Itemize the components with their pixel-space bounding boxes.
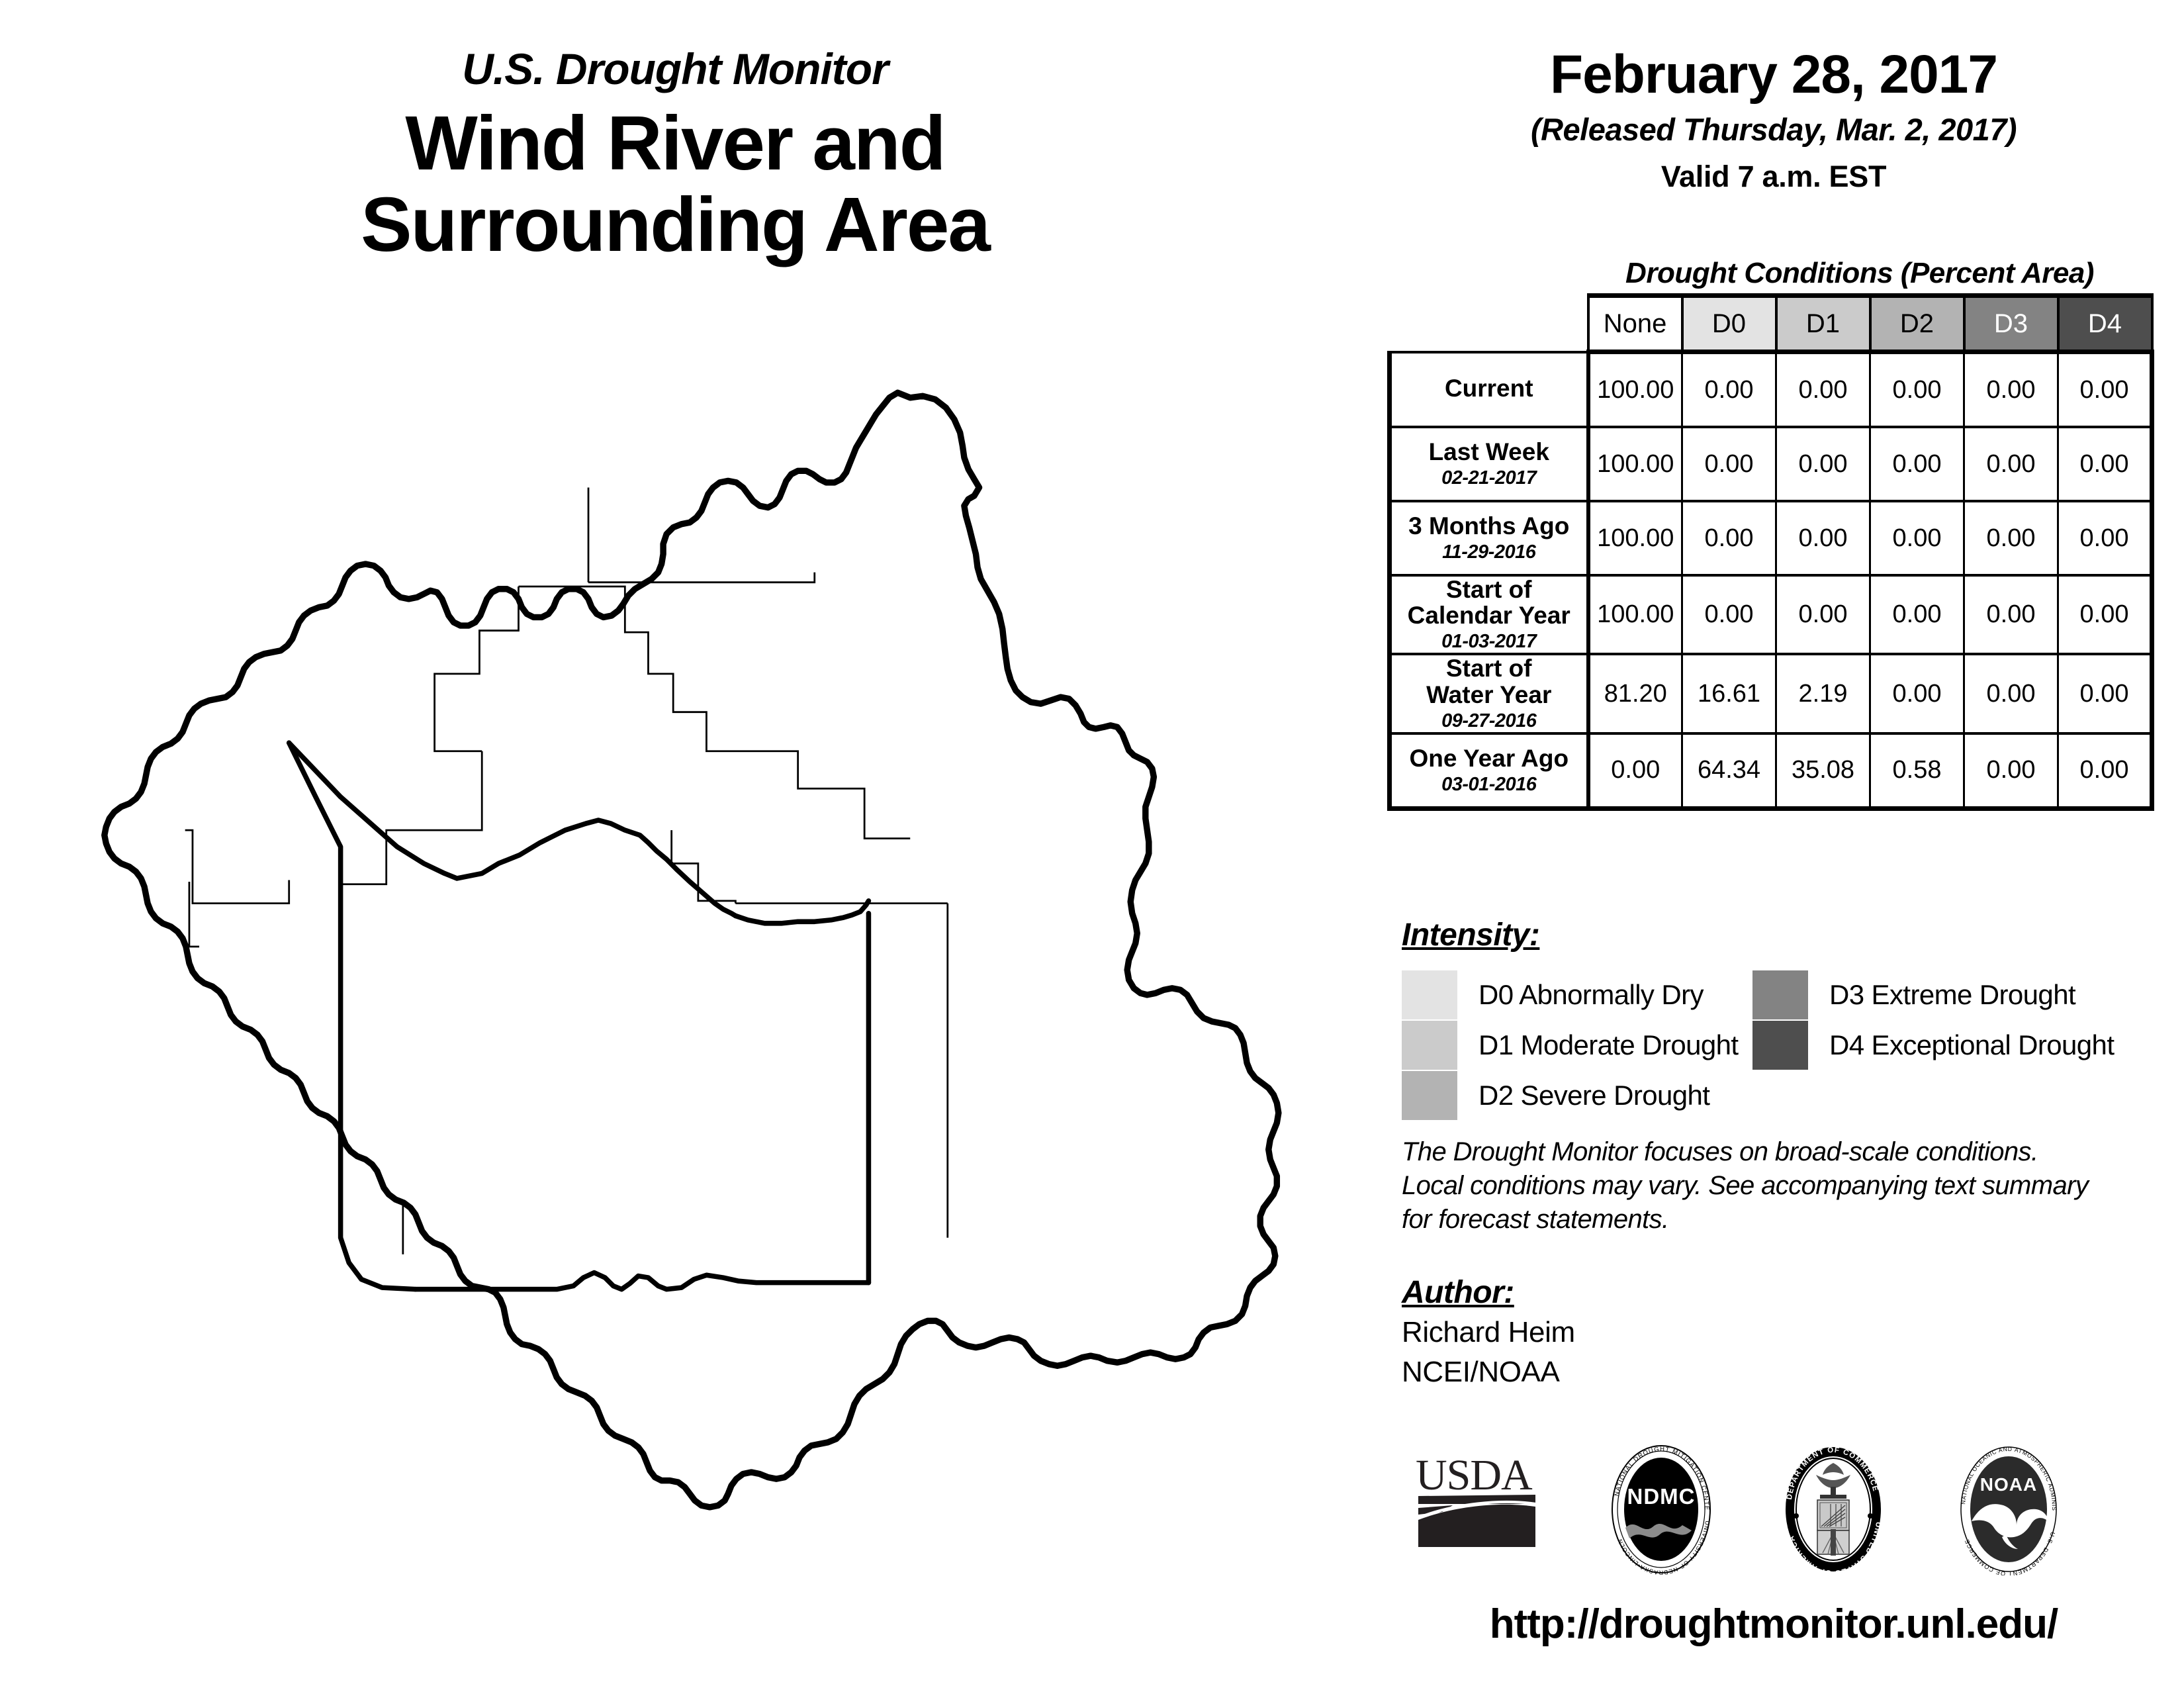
column-header-d0: D0 <box>1682 296 1776 352</box>
author-affiliation: NCEI/NOAA <box>1402 1354 1931 1390</box>
svg-text:USDA: USDA <box>1416 1451 1533 1499</box>
swatch-d3-icon <box>1752 970 1808 1019</box>
cell-d1: 0.00 <box>1776 501 1870 575</box>
row-date: 11-29-2016 <box>1392 541 1586 563</box>
cell-d2: 0.00 <box>1870 501 1964 575</box>
table-row: Current 100.00 0.00 0.00 0.00 0.00 0.00 <box>1390 352 2152 428</box>
map-outer-boundary <box>105 393 1279 1507</box>
doc-seal-svg: DEPARTMENT OF COMMERCE UNITED STATES OF … <box>1767 1443 1899 1575</box>
logo-row: USDA NDMC NATIONAL DROUGHT MITI <box>1377 1443 2171 1575</box>
row-title: Start ofCalendar Year <box>1392 577 1586 628</box>
cell-d0: 0.00 <box>1682 575 1776 654</box>
intensity-legend: Intensity: D0 Abnormally Dry D1 Moderate… <box>1402 917 2183 1116</box>
cell-d1: 0.00 <box>1776 352 1870 428</box>
cell-d1: 0.00 <box>1776 427 1870 501</box>
cell-none: 81.20 <box>1588 654 1682 733</box>
cell-d4: 0.00 <box>2058 501 2152 575</box>
row-date: 09-27-2016 <box>1392 710 1586 732</box>
legend-label-d2: D2 Severe Drought <box>1479 1080 1709 1111</box>
table-row: Last Week 02-21-2017 100.00 0.00 0.00 0.… <box>1390 427 2152 501</box>
cell-d0: 0.00 <box>1682 427 1776 501</box>
legend-item-d0: D0 Abnormally Dry <box>1402 970 1704 1019</box>
title-block: U.S. Drought Monitor Wind River and Surr… <box>0 46 1350 265</box>
cell-d0: 0.00 <box>1682 352 1776 428</box>
cell-d4: 0.00 <box>2058 654 2152 733</box>
table-caption: Drought Conditions (Percent Area) <box>1562 257 2158 290</box>
svg-text:NDMC: NDMC <box>1627 1484 1696 1509</box>
cell-d1: 2.19 <box>1776 654 1870 733</box>
map-svg <box>66 361 1363 1532</box>
usda-logo: USDA <box>1413 1451 1555 1564</box>
cell-d3: 0.00 <box>1964 427 2058 501</box>
cell-d3: 0.00 <box>1964 575 2058 654</box>
drought-conditions-table: None D0 D1 D2 D3 D4 Current 100.00 0.00 … <box>1387 293 2154 811</box>
disclaimer-line-1: The Drought Monitor focuses on broad-sca… <box>1402 1135 2176 1169</box>
cell-d0: 64.34 <box>1682 733 1776 809</box>
cell-d1: 35.08 <box>1776 733 1870 809</box>
cell-none: 0.00 <box>1588 733 1682 809</box>
cell-d3: 0.00 <box>1964 654 2058 733</box>
cell-d4: 0.00 <box>2058 575 2152 654</box>
legend-label-d1: D1 Moderate Drought <box>1479 1029 1738 1061</box>
cell-d2: 0.00 <box>1870 654 1964 733</box>
page-title: Wind River and Surrounding Area <box>0 103 1350 265</box>
legend-item-d4: D4 Exceptional Drought <box>1752 1021 2114 1070</box>
swatch-d0-icon <box>1402 970 1457 1019</box>
usda-logo-svg: USDA <box>1413 1451 1555 1560</box>
noaa-logo: NOAA NATIONAL OCEANIC AND ATMOSPHERIC AD… <box>1942 1443 2075 1579</box>
table-header-row: None D0 D1 D2 D3 D4 <box>1390 296 2152 352</box>
row-title: Current <box>1392 375 1586 401</box>
cell-none: 100.00 <box>1588 575 1682 654</box>
right-panel: February 28, 2017 (Released Thursday, Ma… <box>1363 0 2184 1688</box>
noaa-logo-svg: NOAA NATIONAL OCEANIC AND ATMOSPHERIC AD… <box>1942 1443 2075 1575</box>
disclaimer-text: The Drought Monitor focuses on broad-sca… <box>1402 1135 2176 1237</box>
cell-d2: 0.00 <box>1870 352 1964 428</box>
intensity-heading: Intensity: <box>1402 917 2183 953</box>
cell-d0: 16.61 <box>1682 654 1776 733</box>
release-date: (Released Thursday, Mar. 2, 2017) <box>1363 111 2184 148</box>
page-title-line1: Wind River and <box>0 103 1350 184</box>
cell-d3: 0.00 <box>1964 352 2058 428</box>
legend-label-d4: D4 Exceptional Drought <box>1829 1029 2114 1061</box>
legend-label-d3: D3 Extreme Drought <box>1829 979 2075 1011</box>
legend-item-d2: D2 Severe Drought <box>1402 1071 1709 1120</box>
row-label-start-of-water-year: Start ofWater Year 09-27-2016 <box>1390 654 1588 733</box>
department-of-commerce-seal: DEPARTMENT OF COMMERCE UNITED STATES OF … <box>1767 1443 1899 1579</box>
row-label-start-of-calendar-year: Start ofCalendar Year 01-03-2017 <box>1390 575 1588 654</box>
ndmc-logo-svg: NDMC NATIONAL DROUGHT MITIGATION CENTER … <box>1595 1443 1727 1575</box>
row-label-current: Current <box>1390 352 1588 428</box>
legend-item-d3: D3 Extreme Drought <box>1752 970 2075 1019</box>
row-title: 3 Months Ago <box>1392 513 1586 539</box>
row-title: One Year Ago <box>1392 745 1586 771</box>
swatch-d4-icon <box>1752 1021 1808 1070</box>
cell-d2: 0.00 <box>1870 427 1964 501</box>
disclaimer-line-3: for forecast statements. <box>1402 1203 2176 1237</box>
cell-none: 100.00 <box>1588 427 1682 501</box>
table-row: Start ofWater Year 09-27-2016 81.20 16.6… <box>1390 654 2152 733</box>
row-date: 03-01-2016 <box>1392 774 1586 796</box>
svg-text:NOAA: NOAA <box>1980 1474 2037 1495</box>
cell-d4: 0.00 <box>2058 733 2152 809</box>
row-label-one-year-ago: One Year Ago 03-01-2016 <box>1390 733 1588 809</box>
cell-d2: 0.00 <box>1870 575 1964 654</box>
row-label-3-months-ago: 3 Months Ago 11-29-2016 <box>1390 501 1588 575</box>
cell-none: 100.00 <box>1588 352 1682 428</box>
row-title: Last Week <box>1392 439 1586 465</box>
row-date: 01-03-2017 <box>1392 631 1586 653</box>
swatch-d2-icon <box>1402 1071 1457 1120</box>
row-date: 02-21-2017 <box>1392 467 1586 489</box>
legend-label-d0: D0 Abnormally Dry <box>1479 979 1704 1011</box>
author-section: Author: Richard Heim NCEI/NOAA <box>1402 1274 1931 1389</box>
map-interior-boundaries <box>185 487 948 1254</box>
map-major-internal-boundaries <box>289 743 869 1289</box>
column-header-d4: D4 <box>2058 296 2152 352</box>
cell-d3: 0.00 <box>1964 501 2058 575</box>
column-header-none: None <box>1588 296 1682 352</box>
cell-d4: 0.00 <box>2058 427 2152 501</box>
header-spacer <box>1390 296 1588 352</box>
column-header-d3: D3 <box>1964 296 2058 352</box>
column-header-d1: D1 <box>1776 296 1870 352</box>
date-block: February 28, 2017 (Released Thursday, Ma… <box>1363 48 2184 194</box>
ndmc-logo: NDMC NATIONAL DROUGHT MITIGATION CENTER … <box>1595 1443 1727 1579</box>
legend-item-d1: D1 Moderate Drought <box>1402 1021 1738 1070</box>
cell-d3: 0.00 <box>1964 733 2058 809</box>
legend-grid: D0 Abnormally Dry D1 Moderate Drought D2… <box>1402 970 2183 1116</box>
cell-d0: 0.00 <box>1682 501 1776 575</box>
table-row: 3 Months Ago 11-29-2016 100.00 0.00 0.00… <box>1390 501 2152 575</box>
cell-d1: 0.00 <box>1776 575 1870 654</box>
column-header-d2: D2 <box>1870 296 1964 352</box>
drought-monitor-kicker: U.S. Drought Monitor <box>0 46 1350 92</box>
valid-time: Valid 7 a.m. EST <box>1363 160 2184 194</box>
author-heading: Author: <box>1402 1274 1931 1311</box>
swatch-d1-icon <box>1402 1021 1457 1070</box>
author-name: Richard Heim <box>1402 1315 1931 1350</box>
page-title-line2: Surrounding Area <box>0 184 1350 265</box>
disclaimer-line-2: Local conditions may vary. See accompany… <box>1402 1169 2176 1203</box>
table-row: One Year Ago 03-01-2016 0.00 64.34 35.08… <box>1390 733 2152 809</box>
cell-none: 100.00 <box>1588 501 1682 575</box>
cell-d4: 0.00 <box>2058 352 2152 428</box>
website-url[interactable]: http://droughtmonitor.unl.edu/ <box>1363 1601 2184 1648</box>
table-row: Start ofCalendar Year 01-03-2017 100.00 … <box>1390 575 2152 654</box>
drought-map[interactable] <box>66 361 1363 1532</box>
valid-date: February 28, 2017 <box>1363 48 2184 102</box>
row-title: Start ofWater Year <box>1392 655 1586 707</box>
cell-d2: 0.58 <box>1870 733 1964 809</box>
row-label-last-week: Last Week 02-21-2017 <box>1390 427 1588 501</box>
